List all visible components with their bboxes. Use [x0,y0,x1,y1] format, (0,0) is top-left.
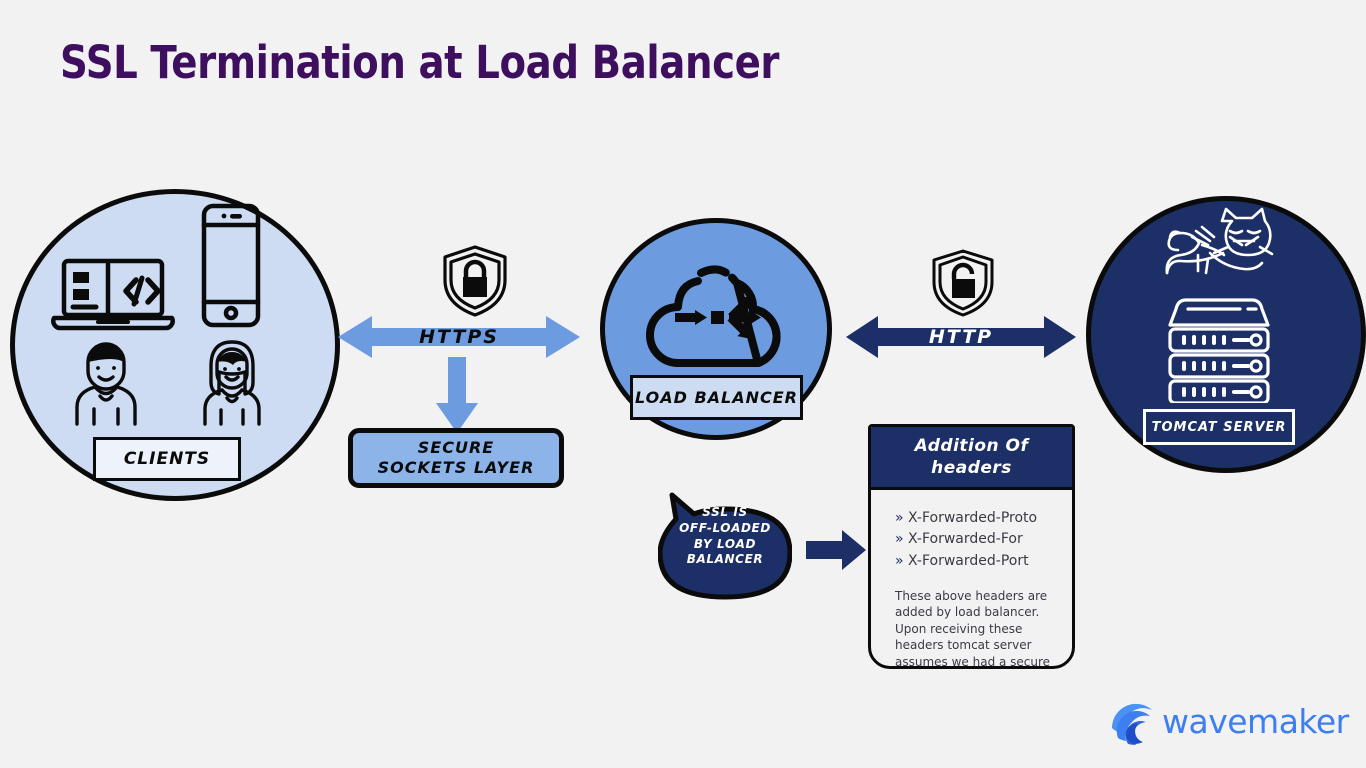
load-balancer-label: LOAD BALANCER [630,375,803,420]
bullet-glyph: » [895,510,904,526]
http-label: HTTP [846,313,1076,361]
ssl-offload-bubble-text: SSL IS OFF-LOADED BY LOAD BALANCER [658,505,792,568]
ssl-down-arrow [436,357,478,433]
female-user-icon [196,336,268,426]
headers-panel-note: These above headers are added by load ba… [895,588,1060,669]
bubble-line-2: OFF-LOADED [658,521,792,537]
tomcat-server-label: TOMCAT SERVER [1143,409,1295,445]
ssl-box: SECURE SOCKETS LAYER [348,428,564,488]
male-user-icon [70,336,142,426]
headers-title-line-2: headers [931,457,1012,479]
wavemaker-wordmark: wavemaker [1162,702,1349,741]
https-arrow: HTTPS [338,313,580,361]
server-rack-icon [1160,283,1278,403]
header-item-label: X-Forwarded-Proto [908,510,1037,526]
headers-panel: Addition Of headers » X-Forwarded-Proto … [868,424,1075,669]
bubble-line-1: SSL IS [658,505,792,521]
header-item: » X-Forwarded-For [895,529,1072,550]
header-item-label: X-Forwarded-For [908,531,1023,547]
headers-panel-title: Addition Of headers [871,427,1072,490]
wave-spiral-icon [1106,694,1160,748]
headers-panel-body: » X-Forwarded-Proto » X-Forwarded-For » … [871,490,1072,669]
headers-title-line-1: Addition Of [915,435,1029,457]
ssl-line-2: SOCKETS LAYER [378,458,535,478]
laptop-code-icon [48,258,178,334]
cloud-distribution-icon [645,253,791,371]
header-item: » X-Forwarded-Port [895,551,1072,572]
smartphone-icon [200,203,262,328]
bullet-glyph: » [895,553,904,569]
wavemaker-logo: wavemaker [1106,694,1321,748]
tomcat-cat-icon [1152,207,1286,291]
bubble-line-4: BALANCER [658,552,792,568]
shield-lock-icon [440,244,510,318]
header-item: » X-Forwarded-Proto [895,508,1072,529]
shield-unlock-icon [930,248,996,318]
page-title: SSL Termination at Load Balancer [60,36,779,89]
https-label: HTTPS [338,313,580,361]
header-item-label: X-Forwarded-Port [908,553,1029,569]
bubble-to-headers-arrow [806,530,866,570]
http-arrow: HTTP [846,313,1076,361]
bullet-glyph: » [895,531,904,547]
ssl-line-1: SECURE [418,438,494,458]
bubble-line-3: BY LOAD [658,537,792,553]
clients-label: CLIENTS [93,437,241,481]
diagram-canvas: SSL Termination at Load Balancer [0,0,1366,768]
